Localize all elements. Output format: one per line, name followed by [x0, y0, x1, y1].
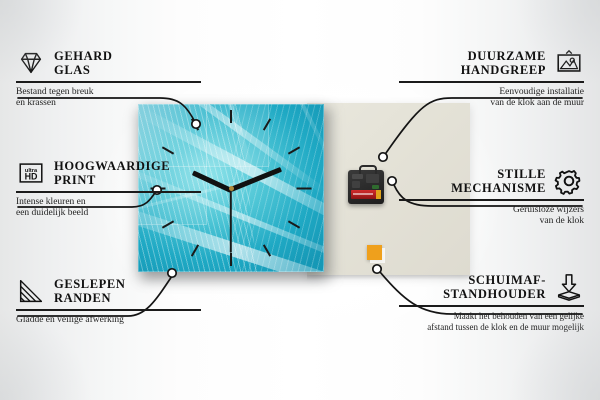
feature-desc: Gladde en veilige afwerking	[16, 315, 201, 327]
feature-desc-line1: Gladde en veilige afwerking	[16, 315, 201, 327]
picture-hanger-icon	[554, 48, 584, 78]
feature-gehard-glas: GEHARD GLAS Bestand tegen breuk en krass…	[16, 48, 201, 110]
feature-title-line1: HOOGWAARDIGE	[54, 159, 170, 173]
bevelled-edge-icon	[16, 276, 46, 306]
feature-title-line1: GESLEPEN	[54, 277, 126, 291]
feature-desc-line1: Maakt het behouden van een gelijke	[399, 311, 584, 322]
feature-desc: Bestand tegen breuk en krassen	[16, 87, 201, 110]
feature-title-line2: HANDGREEP	[461, 63, 546, 77]
feature-title-line2: STANDHOUDER	[443, 287, 546, 301]
feature-divider	[16, 81, 201, 83]
feature-head: SCHUIMAF- STANDHOUDER	[399, 272, 584, 302]
feature-desc-line2: van de klok	[399, 216, 584, 228]
feature-title: GESLEPEN RANDEN	[54, 277, 126, 305]
connector-endpoint-gehard-glas	[192, 120, 200, 128]
feature-head: GEHARD GLAS	[16, 48, 201, 78]
clock-hub	[229, 186, 234, 191]
feature-title-line1: SCHUIMAF-	[443, 273, 546, 287]
feature-schuimafstandhouder: SCHUIMAF- STANDHOUDER Maakt het behouden…	[399, 272, 584, 333]
feature-desc-line1: Geruisloze wijzers	[399, 205, 584, 217]
feature-desc-line1: Eenvoudige installatie	[399, 87, 584, 99]
feature-desc: Maakt het behouden van een gelijke afsta…	[399, 311, 584, 333]
feature-title-line1: DUURZAME	[461, 49, 546, 63]
feature-title: HOOGWAARDIGE PRINT	[54, 159, 170, 187]
feature-divider	[16, 309, 201, 311]
feature-desc-line2: een duidelijk beeld	[16, 208, 201, 220]
feature-desc: Eenvoudige installatie van de klok aan d…	[399, 87, 584, 110]
feature-geslepen-randen: GESLEPEN RANDEN Gladde en veilige afwerk…	[16, 276, 201, 326]
feature-desc-line1: Intense kleuren en	[16, 197, 201, 209]
ultra-hd-icon: ultra HD	[16, 158, 46, 188]
connector-endpoint-mechanisme	[388, 177, 396, 185]
feature-title-line2: RANDEN	[54, 291, 126, 305]
feature-desc-line2: afstand tussen de klok en de muur mogeli…	[399, 322, 584, 333]
feature-divider	[399, 81, 584, 83]
feature-title-line2: GLAS	[54, 63, 112, 77]
gear-icon	[554, 166, 584, 196]
feature-title-line1: STILLE	[451, 167, 546, 181]
feature-divider	[399, 199, 584, 201]
feature-duurzame-handgreep: DUURZAME HANDGREEP Eenvoudige installati…	[399, 48, 584, 110]
feature-head: STILLE MECHANISME	[399, 166, 584, 196]
feature-title-line2: PRINT	[54, 173, 170, 187]
feature-desc: Geruisloze wijzers van de klok	[399, 205, 584, 228]
feature-stille-mechanisme: STILLE MECHANISME Geruisloze wijzers van…	[399, 166, 584, 228]
feature-head: ultra HD HOOGWAARDIGE PRINT	[16, 158, 201, 188]
connector-endpoint-foam	[373, 265, 381, 273]
diamond-icon	[16, 48, 46, 78]
feature-title-line1: GEHARD	[54, 49, 112, 63]
feature-desc: Intense kleuren en een duidelijk beeld	[16, 197, 201, 220]
feature-desc-line2: van de klok aan de muur	[399, 98, 584, 110]
feature-divider	[16, 191, 201, 193]
foam-spacer-icon	[554, 272, 584, 302]
infographic-stage: GEHARD GLAS Bestand tegen breuk en krass…	[0, 0, 600, 400]
feature-divider	[399, 305, 584, 307]
feature-title: DUURZAME HANDGREEP	[461, 49, 546, 77]
feature-title-line2: MECHANISME	[451, 181, 546, 195]
feature-title: GEHARD GLAS	[54, 49, 112, 77]
feature-title: SCHUIMAF- STANDHOUDER	[443, 273, 546, 301]
feature-title: STILLE MECHANISME	[451, 167, 546, 195]
feature-desc-line2: en krassen	[16, 98, 201, 110]
feature-head: DUURZAME HANDGREEP	[399, 48, 584, 78]
feature-head: GESLEPEN RANDEN	[16, 276, 201, 306]
feature-desc-line1: Bestand tegen breuk	[16, 87, 201, 99]
ultra-hd-icon-bottom: HD	[25, 172, 38, 182]
connector-endpoint-handgreep	[379, 153, 387, 161]
feature-hoogwaardige-print: ultra HD HOOGWAARDIGE PRINT Intense kleu…	[16, 158, 201, 220]
